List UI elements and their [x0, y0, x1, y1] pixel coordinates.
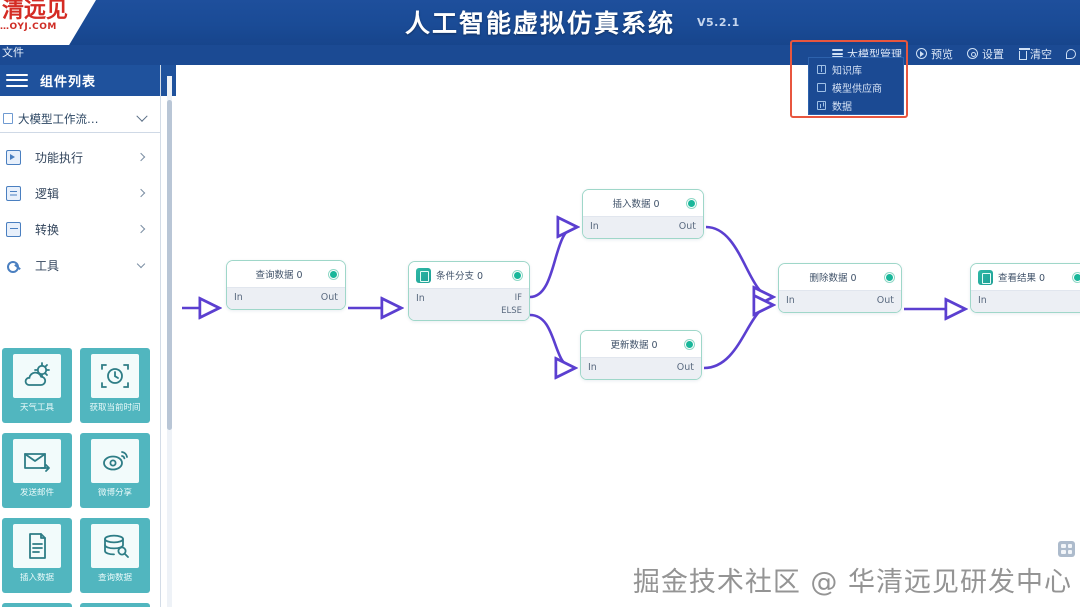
node-type-icon: [978, 270, 993, 285]
weather-icon: [13, 354, 61, 398]
sidebar-item-logic-label: 逻辑: [35, 185, 59, 202]
sidebar-item-function-exec-label: 功能执行: [35, 149, 83, 166]
node-port-out[interactable]: Out: [677, 361, 694, 375]
panel-header: 组件列表: [0, 65, 176, 96]
tool-card-weather[interactable]: 天气工具: [2, 348, 72, 423]
tool-card-query-data[interactable]: 查询数据: [80, 518, 150, 593]
node-status-dot[interactable]: [687, 199, 696, 208]
node-port-in[interactable]: In: [590, 220, 599, 234]
undo-icon: [1066, 49, 1076, 59]
tool-card-grid: 天气工具 获取当前时间: [0, 348, 160, 607]
flow-icon: [3, 113, 13, 124]
menu-item-preview-label: 预览: [931, 46, 953, 62]
dropdown-item-data[interactable]: 数据: [809, 96, 903, 114]
dropdown-item-model-provider-label: 模型供应商: [832, 80, 882, 95]
node-title: 条件分支 0: [436, 268, 508, 282]
node-ports: In Out: [583, 216, 703, 238]
node-header: 插入数据 0: [583, 190, 703, 216]
panel-divider: [160, 65, 161, 607]
node-title: 查询数据 0: [234, 267, 324, 281]
app-version: V5.2.1: [697, 16, 740, 29]
tool-card-current-time[interactable]: 获取当前时间: [80, 348, 150, 423]
node-ports: In IF ELSE: [409, 288, 529, 320]
tool-card-query-data-label: 查询数据: [98, 573, 132, 583]
tool-card-update-data[interactable]: 更新数据: [2, 603, 72, 607]
node-status-dot[interactable]: [685, 340, 694, 349]
node-port-in[interactable]: In: [234, 291, 243, 305]
trash-icon: [1019, 51, 1027, 60]
menu-item-preview[interactable]: 预览: [916, 46, 953, 62]
menu-item-settings[interactable]: 设置: [967, 46, 1004, 62]
node-type-icon: [416, 268, 431, 283]
sidebar-item-tools[interactable]: 工具: [0, 247, 160, 283]
node-port-else[interactable]: ELSE: [501, 305, 522, 317]
tool-icon: [6, 258, 21, 273]
chevron-down-icon: [136, 110, 147, 121]
workflow-node[interactable]: 删除数据 0 In Out: [778, 263, 902, 313]
dropdown-item-model-provider[interactable]: 模型供应商: [809, 78, 903, 96]
menu-item-clear-label: 清空: [1030, 46, 1052, 62]
tool-card-send-mail[interactable]: 发送邮件: [2, 433, 72, 508]
node-title: 插入数据 0: [590, 196, 682, 210]
node-port-in[interactable]: In: [786, 294, 795, 308]
node-port-in[interactable]: In: [588, 361, 597, 375]
node-port-out[interactable]: Out: [321, 291, 338, 305]
node-port-out[interactable]: Out: [877, 294, 894, 308]
logic-icon: [6, 186, 21, 201]
play-circle-icon: [916, 48, 927, 59]
node-ports: In Out: [779, 290, 901, 312]
tool-card-insert-data-label: 插入数据: [20, 573, 54, 583]
node-header: 条件分支 0: [409, 262, 529, 288]
transform-icon: [6, 222, 21, 237]
node-header: 更新数据 0: [581, 331, 701, 357]
sidebar-item-transform-label: 转换: [35, 221, 59, 238]
panel-title: 组件列表: [40, 71, 96, 90]
component-list-panel: 组件列表 大模型工作流… 功能执行 逻辑 转换: [0, 65, 176, 607]
workflow-select-value: 大模型工作流…: [18, 111, 99, 127]
node-port-in[interactable]: In: [978, 294, 987, 308]
mail-send-icon: [13, 439, 61, 483]
node-ports: In Out: [581, 357, 701, 379]
tool-card-delete-data[interactable]: 删除数据: [80, 603, 150, 607]
node-title: 删除数据 0: [786, 270, 880, 284]
node-ports: In: [971, 290, 1080, 312]
workflow-node[interactable]: 插入数据 0 In Out: [582, 189, 704, 239]
node-ports: In Out: [227, 287, 345, 309]
panel-scrollbar-thumb[interactable]: [167, 100, 172, 430]
apps-grid-icon: [1058, 541, 1075, 557]
chevron-down-icon: [137, 259, 145, 267]
menu-item-undo[interactable]: [1066, 49, 1076, 59]
menu-item-settings-label: 设置: [982, 46, 1004, 62]
db-search-icon: [91, 524, 139, 568]
tool-card-send-mail-label: 发送邮件: [20, 488, 54, 498]
node-status-dot[interactable]: [1073, 273, 1080, 282]
node-title: 更新数据 0: [588, 337, 680, 351]
page-title: 人工智能虚拟仿真系统: [0, 4, 1080, 40]
nav-list: 功能执行 逻辑 转换 工具: [0, 139, 160, 283]
sidebar-item-transform[interactable]: 转换: [0, 211, 160, 247]
workflow-node[interactable]: 更新数据 0 In Out: [580, 330, 702, 380]
node-port-out[interactable]: Out: [679, 220, 696, 234]
app-window: 清远见 …OYJ.COM 人工智能虚拟仿真系统 V5.2.1 文件 大模型管理 …: [0, 0, 1080, 607]
chevron-right-icon: [137, 189, 145, 197]
sidebar-item-logic[interactable]: 逻辑: [0, 175, 160, 211]
workflow-node[interactable]: 查询数据 0 In Out: [226, 260, 346, 310]
title-bar: 清远见 …OYJ.COM 人工智能虚拟仿真系统 V5.2.1: [0, 0, 1080, 45]
file-menu[interactable]: 文件: [2, 44, 24, 60]
node-status-dot[interactable]: [329, 270, 338, 279]
clock-scan-icon: [91, 354, 139, 398]
exec-icon: [6, 150, 21, 165]
tool-card-insert-data[interactable]: 插入数据: [2, 518, 72, 593]
hamburger-menu-icon[interactable]: [6, 74, 28, 88]
workflow-node[interactable]: 查看结果 0 In: [970, 263, 1080, 313]
chart-icon: [817, 101, 826, 110]
node-status-dot[interactable]: [513, 271, 522, 280]
tool-card-weibo-share[interactable]: 微博分享: [80, 433, 150, 508]
node-header: 删除数据 0: [779, 264, 901, 290]
workflow-select[interactable]: 大模型工作流…: [0, 105, 160, 133]
node-status-dot[interactable]: [885, 273, 894, 282]
menu-item-clear[interactable]: 清空: [1018, 46, 1052, 62]
provider-icon: [817, 83, 826, 92]
node-port-in[interactable]: In: [416, 292, 425, 306]
node-port-if[interactable]: IF: [515, 292, 522, 304]
workflow-node[interactable]: 条件分支 0 In IF ELSE: [408, 261, 530, 321]
dropdown-item-data-label: 数据: [832, 98, 852, 113]
model-manage-dropdown[interactable]: 知识库 模型供应商 数据: [808, 57, 904, 115]
dropdown-item-knowledge-base[interactable]: 知识库: [809, 60, 903, 78]
weibo-eye-icon: [91, 439, 139, 483]
dropdown-item-knowledge-base-label: 知识库: [832, 62, 862, 77]
tool-card-weather-label: 天气工具: [20, 403, 54, 413]
tool-card-weibo-share-label: 微博分享: [98, 488, 132, 498]
node-title: 查看结果 0: [998, 270, 1068, 284]
sidebar-item-tools-label: 工具: [35, 257, 59, 274]
node-header: 查询数据 0: [227, 261, 345, 287]
node-header: 查看结果 0: [971, 264, 1080, 290]
tool-card-current-time-label: 获取当前时间: [89, 403, 140, 413]
sidebar-item-function-exec[interactable]: 功能执行: [0, 139, 160, 175]
workflow-canvas[interactable]: 查询数据 0 In Out 条件分支 0 In IF ELSE: [176, 65, 1080, 607]
chevron-right-icon: [137, 225, 145, 233]
chevron-right-icon: [137, 153, 145, 161]
book-icon: [817, 65, 826, 74]
insert-doc-icon: [13, 524, 61, 568]
gear-icon: [967, 48, 978, 59]
